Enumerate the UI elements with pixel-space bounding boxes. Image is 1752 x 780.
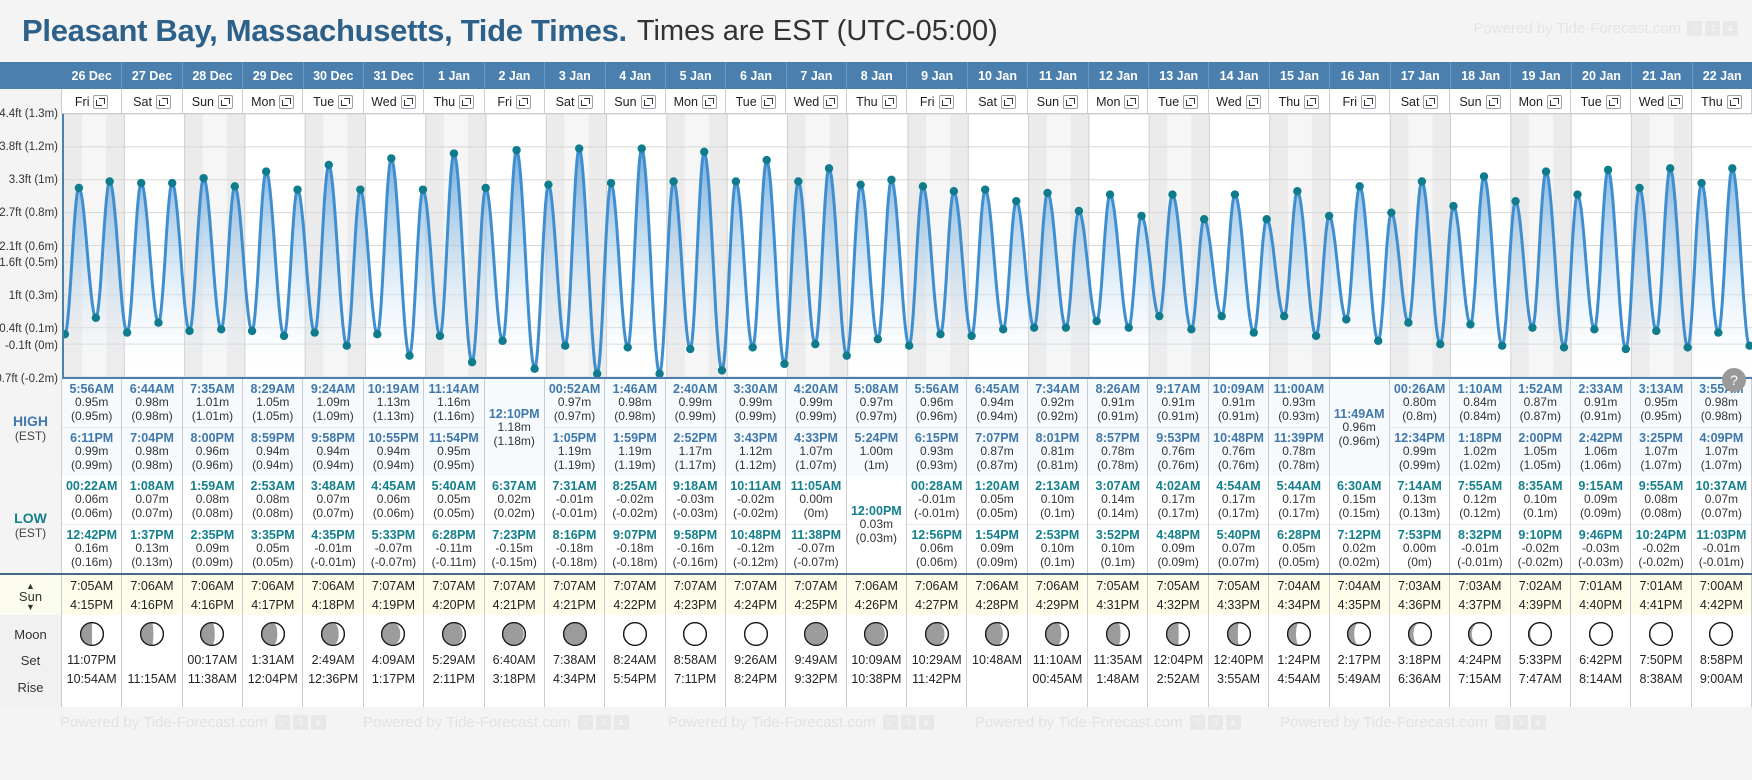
sunrise-time: 7:07AM — [553, 577, 596, 596]
tide-extreme-marker[interactable] — [1062, 324, 1070, 332]
tide-extreme-marker[interactable] — [512, 146, 520, 154]
tide-extreme-marker[interactable] — [343, 342, 351, 350]
moonset-time: 00:17AM — [187, 651, 237, 670]
moon-phase-wrapper — [1407, 621, 1433, 647]
expand-icon[interactable] — [1183, 95, 1198, 109]
low-tide-height-alt: (0.05m) — [252, 556, 293, 570]
low-tide-height: 0.08m — [1644, 493, 1677, 507]
moon-phase-wrapper — [501, 621, 527, 647]
tide-extreme-marker[interactable] — [1418, 177, 1426, 185]
tide-extreme-marker[interactable] — [1012, 197, 1020, 205]
tide-extreme-marker[interactable] — [1449, 202, 1457, 210]
high-tide-event: 12:34PM0.99m(0.99m) — [1390, 427, 1449, 476]
weekday-header-cell[interactable]: Wed — [786, 89, 846, 114]
high-tide-height: 0.95m — [437, 445, 470, 459]
tide-extreme-marker[interactable] — [168, 179, 176, 187]
tide-extreme-marker[interactable] — [575, 144, 583, 152]
expand-icon[interactable] — [761, 95, 776, 109]
low-tide-time: 11:05AM — [791, 479, 842, 493]
high-tide-height-alt: (1.05m) — [1520, 459, 1561, 473]
high-tide-event: 2:33AM0.91m(0.91m) — [1571, 379, 1630, 427]
sun-cell: 7:07AM4:21PM — [485, 575, 545, 617]
low-tide-height: 0.00m — [799, 493, 832, 507]
high-tide-cell: 1:10AM0.84m(0.84m)1:18PM1.02m(1.02m) — [1450, 379, 1510, 476]
tide-extreme-marker[interactable] — [780, 360, 788, 368]
tide-extreme-marker[interactable] — [1590, 325, 1598, 333]
high-tide-height-alt: (0.96m) — [1339, 435, 1380, 449]
weekday-header-cell[interactable]: Wed — [364, 89, 424, 114]
tide-extreme-marker[interactable] — [356, 185, 364, 193]
low-tide-height: -0.16m — [677, 542, 714, 556]
date-header-cell: 13 Jan — [1149, 62, 1209, 89]
sunrise-time: 7:07AM — [493, 577, 536, 596]
weekday-header-cell[interactable]: Sun — [605, 89, 665, 114]
expand-icon[interactable] — [939, 95, 954, 109]
high-tide-event: 11:14AM1.16m(1.16m) — [424, 379, 483, 427]
expand-icon[interactable] — [1246, 95, 1261, 109]
moon-cell: 10:48AM — [967, 615, 1027, 707]
weekday-header-cell[interactable]: Mon — [1088, 89, 1148, 114]
expand-icon[interactable] — [218, 95, 233, 109]
moonrise-time: 11:42PM — [912, 670, 961, 689]
tide-extreme-marker[interactable] — [1293, 187, 1301, 195]
expand-icon[interactable] — [93, 95, 108, 109]
tide-extreme-marker[interactable] — [1125, 324, 1133, 332]
tide-extreme-marker[interactable] — [1262, 215, 1270, 223]
sunset-time: 4:21PM — [553, 596, 596, 615]
expand-icon[interactable] — [578, 95, 593, 109]
tide-extreme-marker[interactable] — [874, 335, 882, 343]
low-tide-height: 0.07m — [135, 493, 168, 507]
tide-extreme-marker[interactable] — [1155, 312, 1163, 320]
tide-extreme-marker[interactable] — [638, 144, 646, 152]
tide-extreme-marker[interactable] — [856, 180, 864, 188]
tide-extreme-marker[interactable] — [1652, 327, 1660, 335]
moonrise-time: 7:11PM — [674, 670, 716, 689]
sun-cell: 7:06AM4:27PM — [907, 575, 967, 617]
tide-extreme-marker[interactable] — [1218, 312, 1226, 320]
low-tide-height: -0.15m — [496, 542, 533, 556]
low-tide-time: 6:28PM — [432, 528, 476, 542]
tide-extreme-marker[interactable] — [732, 177, 740, 185]
tide-extreme-marker[interactable] — [498, 337, 506, 345]
low-tide-event: 3:35PM0.05m(0.05m) — [243, 524, 302, 573]
tide-extreme-marker[interactable] — [293, 185, 301, 193]
low-tide-height-alt: (0.02m) — [1339, 556, 1380, 570]
tide-extreme-marker[interactable] — [1387, 208, 1395, 216]
tide-extreme-marker[interactable] — [1280, 312, 1288, 320]
moon-phase-icon — [1226, 621, 1252, 647]
tide-extreme-marker[interactable] — [669, 177, 677, 185]
tide-extreme-marker[interactable] — [248, 327, 256, 335]
tide-extreme-marker[interactable] — [1573, 190, 1581, 198]
tide-extreme-marker[interactable] — [1030, 324, 1038, 332]
tide-extreme-marker[interactable] — [905, 342, 913, 350]
tide-extreme-marker[interactable] — [887, 176, 895, 184]
weekday-header-cell[interactable]: Fri — [1330, 89, 1390, 114]
tide-extreme-marker[interactable] — [405, 351, 413, 359]
tide-extreme-marker[interactable] — [1092, 317, 1100, 325]
low-tide-cell: 3:07AM0.14m(0.14m)3:52PM0.10m(0.1m) — [1088, 476, 1148, 573]
sunset-time: 4:17PM — [251, 596, 294, 615]
moon-cell: 8:58AM7:11PM — [666, 615, 726, 707]
tide-extreme-marker[interactable] — [1312, 332, 1320, 340]
low-tide-event: 7:23PM-0.15m(-0.15m) — [485, 524, 544, 573]
tide-extreme-marker[interactable] — [419, 185, 427, 193]
weekday-header-cell[interactable]: Wed — [1209, 89, 1269, 114]
high-tide-cell: 10:19AM1.13m(1.13m)10:55PM0.94m(0.94m) — [364, 379, 424, 476]
tide-extreme-marker[interactable] — [530, 365, 538, 373]
moon-cell: 5:33PM7:47AM — [1511, 615, 1571, 707]
expand-icon[interactable] — [1001, 95, 1016, 109]
high-tide-height-alt: (0.99m) — [735, 410, 776, 424]
high-tide-cell: 7:35AM1.01m(1.01m)8:00PM0.96m(0.96m) — [183, 379, 243, 476]
tide-extreme-marker[interactable] — [794, 177, 802, 185]
moonset-time: 6:40AM — [493, 651, 536, 670]
expand-icon[interactable] — [401, 95, 416, 109]
sunset-time: 4:22PM — [613, 596, 656, 615]
sunrise-time: 7:06AM — [130, 577, 173, 596]
low-tide-event: 8:16PM-0.18m(-0.18m) — [545, 524, 604, 573]
tide-extreme-marker[interactable] — [1498, 342, 1506, 350]
high-tide-event: 11:39PM0.78m(0.78m) — [1269, 427, 1328, 476]
moon-times: 7:38AM4:34PM — [553, 651, 596, 690]
weekday-header-cell[interactable]: Thu — [847, 89, 907, 114]
tide-extreme-marker[interactable] — [762, 156, 770, 164]
expand-icon[interactable] — [641, 95, 656, 109]
y-axis-tick-label: -0.1ft (0m) — [5, 340, 58, 352]
moonset-time: 6:42PM — [1579, 651, 1622, 670]
moon-phase-wrapper — [1226, 621, 1252, 647]
expand-icon[interactable] — [156, 95, 171, 109]
tide-extreme-marker[interactable] — [1560, 343, 1568, 351]
high-tide-height-alt: (0.93m) — [1278, 410, 1319, 424]
moonrise-time: 11:38AM — [188, 670, 237, 689]
tide-extreme-marker[interactable] — [1604, 166, 1612, 174]
sun-cell: 7:05AM4:33PM — [1209, 575, 1269, 617]
weekday-header-cell[interactable]: Sun — [183, 89, 243, 114]
weekday-header-cell[interactable]: Fri — [485, 89, 545, 114]
tide-extreme-marker[interactable] — [231, 182, 239, 190]
moon-phase-icon — [924, 621, 950, 647]
tide-extreme-marker[interactable] — [624, 343, 632, 351]
expand-icon[interactable] — [1668, 95, 1683, 109]
tide-extreme-marker[interactable] — [700, 148, 708, 156]
high-tide-height-alt: (0.87m) — [976, 459, 1017, 473]
high-tide-cell: 6:44AM0.98m(0.98m)7:04PM0.98m(0.98m) — [122, 379, 182, 476]
tide-extreme-marker[interactable] — [217, 325, 225, 333]
low-tide-height-alt: (-0.02m) — [612, 507, 657, 521]
low-tide-time: 9:15AM — [1578, 479, 1622, 493]
weekday-header-cell[interactable]: Tue — [303, 89, 363, 114]
tide-extreme-marker[interactable] — [686, 345, 694, 353]
tide-extreme-marker[interactable] — [1355, 182, 1363, 190]
low-tide-height: 0.02m — [498, 493, 531, 507]
low-tide-time: 9:18AM — [673, 479, 717, 493]
tide-extreme-marker[interactable] — [950, 187, 958, 195]
weekday-header-cell[interactable]: Sat — [1390, 89, 1450, 114]
high-tide-height: 1.05m — [256, 396, 289, 410]
high-tide-height: 1.18m — [498, 421, 531, 435]
low-tide-height-alt: (-0.03m) — [1578, 556, 1623, 570]
sunset-time: 4:31PM — [1096, 596, 1139, 615]
tide-extreme-marker[interactable] — [1106, 190, 1114, 198]
moonset-time: 1:24PM — [1277, 651, 1320, 670]
low-tide-cell: 6:37AM0.02m(0.02m)7:23PM-0.15m(-0.15m) — [485, 476, 545, 573]
high-tide-time: 7:34AM — [1035, 382, 1079, 396]
help-badge[interactable]: ? — [1722, 368, 1746, 392]
weekday-header-cell[interactable]: Thu — [1692, 89, 1752, 114]
tide-extreme-marker[interactable] — [1187, 325, 1195, 333]
expand-icon[interactable] — [1547, 95, 1562, 109]
high-tide-height-alt: (0.95m) — [1640, 410, 1681, 424]
low-tide-label: LOW (EST) — [0, 476, 62, 573]
tide-extreme-marker[interactable] — [936, 330, 944, 338]
moon-cell: 11:35AM1:48AM — [1088, 615, 1148, 707]
moon-phase-wrapper — [441, 621, 467, 647]
weekday-header-cell[interactable]: Tue — [726, 89, 786, 114]
weekday-header-cell[interactable]: Sat — [545, 89, 605, 114]
tide-extreme-marker[interactable] — [1168, 190, 1176, 198]
weekday-header-cell[interactable]: Sat — [122, 89, 182, 114]
high-tide-height: 0.98m — [135, 396, 168, 410]
weekday-columns: FriSatSunMonTueWedThuFriSatSunMonTueWedT… — [62, 89, 1752, 113]
expand-icon[interactable] — [1124, 95, 1139, 109]
weekday-header-cell[interactable]: Sun — [1028, 89, 1088, 114]
low-tide-height: -0.02m — [737, 493, 774, 507]
tide-extreme-marker[interactable] — [75, 184, 83, 192]
expand-icon[interactable] — [459, 95, 474, 109]
tide-extreme-marker[interactable] — [967, 332, 975, 340]
weekday-header-cell[interactable]: Sat — [967, 89, 1027, 114]
tide-extreme-marker[interactable] — [1480, 172, 1488, 180]
tide-extreme-marker[interactable] — [1374, 337, 1382, 345]
expand-icon[interactable] — [338, 95, 353, 109]
weekday-header-cell[interactable]: Thu — [1269, 89, 1329, 114]
moon-phase-icon — [1527, 621, 1553, 647]
expand-icon[interactable] — [1361, 95, 1376, 109]
low-tide-cell: 5:44AM0.17m(0.17m)6:28PM0.05m(0.05m) — [1269, 476, 1329, 573]
moonrise-time: 10:54AM — [67, 670, 117, 689]
expand-icon[interactable] — [279, 95, 294, 109]
high-tide-cell: 00:26AM0.80m(0.8m)12:34PM0.99m(0.99m) — [1390, 379, 1450, 476]
moon-phase-icon — [1346, 621, 1372, 647]
y-axis-tick-label: 0.4ft (0.1m) — [0, 323, 58, 335]
tide-extreme-marker[interactable] — [1683, 343, 1691, 351]
tide-extreme-marker[interactable] — [1511, 197, 1519, 205]
high-tide-time: 00:52AM — [549, 382, 600, 396]
low-tide-event: 5:40AM0.05m(0.05m) — [424, 476, 483, 524]
high-tide-time: 2:33AM — [1578, 382, 1622, 396]
high-tide-time: 8:57PM — [1096, 431, 1140, 445]
low-tide-height: -0.07m — [375, 542, 412, 556]
tide-extreme-marker[interactable] — [811, 340, 819, 348]
moonset-time: 10:09AM — [851, 651, 901, 670]
high-tide-time: 7:35AM — [190, 382, 234, 396]
expand-icon[interactable] — [1063, 95, 1078, 109]
high-tide-height: 0.98m — [135, 445, 168, 459]
weekday-header-cell[interactable]: Mon — [243, 89, 303, 114]
tide-extreme-marker[interactable] — [1714, 328, 1722, 336]
sunrise-time: 7:07AM — [372, 577, 415, 596]
expand-icon[interactable] — [882, 95, 897, 109]
expand-icon[interactable] — [702, 95, 717, 109]
tide-extreme-marker[interactable] — [262, 167, 270, 175]
tide-extreme-marker[interactable] — [1622, 345, 1630, 353]
low-tide-height: -0.03m — [1582, 542, 1619, 556]
expand-icon[interactable] — [1606, 95, 1621, 109]
tide-extreme-marker[interactable] — [92, 314, 100, 322]
moonset-time: 11:10AM — [1033, 651, 1082, 670]
moonset-time: 10:48AM — [972, 651, 1022, 670]
sun-cell: 7:04AM4:35PM — [1330, 575, 1390, 617]
moon-times: 11:07PM10:54AM — [67, 651, 117, 690]
surf-badge-icon-f2: ▲ — [614, 715, 629, 730]
weekday-header-cell[interactable]: Fri — [62, 89, 122, 114]
weekday-header-cell[interactable]: Thu — [424, 89, 484, 114]
tide-extreme-marker[interactable] — [843, 351, 851, 359]
high-tide-height-alt: (1.17m) — [675, 459, 716, 473]
low-tide-cell: 00:22AM0.06m(0.06m)12:42PM0.16m(0.16m) — [62, 476, 122, 573]
tide-extreme-marker[interactable] — [1200, 215, 1208, 223]
expand-icon[interactable] — [516, 95, 531, 109]
sun-cell: 7:06AM4:17PM — [243, 575, 303, 617]
high-tide-height: 0.94m — [377, 445, 410, 459]
moon-phase-icon — [1165, 621, 1191, 647]
tide-extreme-marker[interactable] — [199, 174, 207, 182]
tide-curve-plot[interactable] — [62, 114, 1752, 379]
tide-extreme-marker[interactable] — [280, 332, 288, 340]
tide-extreme-marker[interactable] — [311, 328, 319, 336]
high-tide-height: 0.96m — [1343, 421, 1376, 435]
weekday-header-cell[interactable]: Sun — [1450, 89, 1510, 114]
low-tide-height: 0.12m — [1463, 493, 1496, 507]
moon-phase-wrapper — [622, 621, 648, 647]
tide-extreme-marker[interactable] — [387, 154, 395, 162]
tide-extreme-marker[interactable] — [468, 358, 476, 366]
tide-extreme-marker[interactable] — [1231, 190, 1239, 198]
weekday-header-cell[interactable]: Mon — [1511, 89, 1571, 114]
sunset-time: 4:40PM — [1579, 596, 1622, 615]
tide-extreme-marker[interactable] — [1250, 328, 1258, 336]
tide-extreme-marker[interactable] — [436, 332, 444, 340]
high-tide-height: 0.93m — [1282, 396, 1315, 410]
tide-extreme-marker[interactable] — [561, 342, 569, 350]
high-tide-event: 5:08AM0.97m(0.97m) — [847, 379, 906, 427]
low-tide-cell: 9:18AM-0.03m(-0.03m)9:58PM-0.16m(-0.16m) — [666, 476, 726, 573]
tide-extreme-marker[interactable] — [718, 366, 726, 374]
tide-extreme-marker[interactable] — [373, 330, 381, 338]
low-tide-time: 5:40AM — [432, 479, 476, 493]
date-header-row: 26 Dec27 Dec28 Dec29 Dec30 Dec31 Dec1 Ja… — [0, 62, 1752, 89]
surf-badge-icon-f5: ▲ — [1531, 715, 1546, 730]
tide-extreme-marker[interactable] — [1635, 184, 1643, 192]
y-axis-tick-label: 4.4ft (1.3m) — [0, 108, 58, 120]
tide-extreme-marker[interactable] — [1342, 315, 1350, 323]
expand-icon[interactable] — [1727, 95, 1742, 109]
low-tide-height: 0.16m — [75, 542, 108, 556]
tide-extreme-marker[interactable] — [999, 325, 1007, 333]
tide-extreme-marker[interactable] — [748, 343, 756, 351]
sun-cell: 7:06AM4:26PM — [847, 575, 907, 617]
weekday-header-cell[interactable]: Wed — [1631, 89, 1691, 114]
low-tide-height: -0.18m — [556, 542, 593, 556]
sunrise-time: 7:07AM — [674, 577, 717, 596]
moon-phase-icon — [380, 621, 406, 647]
y-axis-tick-label: 2.1ft (0.6m) — [0, 241, 58, 253]
tide-extreme-marker[interactable] — [1728, 164, 1736, 172]
low-tide-cell: 00:28AM-0.01m(-0.01m)12:56PM0.06m(0.06m) — [907, 476, 967, 573]
moon-times: 4:09AM1:17PM — [372, 651, 415, 690]
tide-extreme-marker[interactable] — [137, 179, 145, 187]
expand-icon[interactable] — [1423, 95, 1438, 109]
low-tide-height: -0.07m — [797, 542, 834, 556]
moon-cell: 12:40PM3:55AM — [1209, 615, 1269, 707]
tide-extreme-marker[interactable] — [1697, 179, 1705, 187]
tide-extreme-marker[interactable] — [105, 177, 113, 185]
low-tide-height: 0.05m — [1282, 542, 1315, 556]
tide-extreme-marker[interactable] — [325, 161, 333, 169]
tide-extreme-marker[interactable] — [919, 182, 927, 190]
high-tide-cell: 9:24AM1.09m(1.09m)9:58PM0.94m(0.94m) — [303, 379, 363, 476]
tide-extreme-marker[interactable] — [607, 179, 615, 187]
tide-extreme-marker[interactable] — [1436, 340, 1444, 348]
tide-extreme-marker[interactable] — [1137, 212, 1145, 220]
tide-extreme-marker[interactable] — [1466, 320, 1474, 328]
tide-extreme-marker[interactable] — [123, 328, 131, 336]
high-tide-height: 0.92m — [1041, 396, 1074, 410]
high-tide-time: 6:45AM — [975, 382, 1019, 396]
tide-extreme-marker[interactable] — [1666, 164, 1674, 172]
tide-extreme-marker[interactable] — [185, 327, 193, 335]
expand-icon[interactable] — [1304, 95, 1319, 109]
weekday-header-cell[interactable]: Fri — [907, 89, 967, 114]
powered-by-text-4: Powered by Tide-Forecast.com — [975, 714, 1183, 731]
low-tide-height-alt: (0.1m) — [1100, 556, 1135, 570]
weekday-header-cell[interactable]: Mon — [666, 89, 726, 114]
tide-extreme-marker[interactable] — [981, 185, 989, 193]
tide-extreme-marker[interactable] — [482, 184, 490, 192]
sunrise-time: 7:03AM — [1398, 577, 1441, 596]
weekday-header-cell[interactable]: Tue — [1571, 89, 1631, 114]
low-tide-time: 3:52PM — [1096, 528, 1140, 542]
tide-extreme-marker[interactable] — [1043, 189, 1051, 197]
high-tide-height: 1.05m — [1524, 445, 1557, 459]
tide-extreme-marker[interactable] — [825, 164, 833, 172]
tide-extreme-marker[interactable] — [1075, 207, 1083, 215]
weekday-header-cell[interactable]: Tue — [1148, 89, 1208, 114]
expand-icon[interactable] — [1486, 95, 1501, 109]
tide-extreme-marker[interactable] — [1404, 319, 1412, 327]
high-tide-time: 10:19AM — [368, 382, 419, 396]
tide-extreme-marker[interactable] — [1528, 324, 1536, 332]
expand-icon[interactable] — [823, 95, 838, 109]
tide-extreme-marker[interactable] — [544, 180, 552, 188]
tide-extreme-marker[interactable] — [1542, 167, 1550, 175]
low-tide-height: -0.01m — [556, 493, 593, 507]
tide-extreme-marker[interactable] — [450, 149, 458, 157]
high-tide-event: 9:58PM0.94m(0.94m) — [303, 427, 362, 476]
high-tide-time: 4:09PM — [1699, 431, 1743, 445]
moonrise-time: 9:00AM — [1700, 670, 1743, 689]
moon-phase-wrapper — [562, 621, 588, 647]
tide-extreme-marker[interactable] — [154, 319, 162, 327]
low-tide-event: 7:31AM-0.01m(-0.01m) — [545, 476, 604, 524]
sunset-time: 4:25PM — [794, 596, 837, 615]
refresh-badge-icon-f3: ↴ — [901, 715, 916, 730]
tide-extreme-marker[interactable] — [1325, 212, 1333, 220]
high-tide-cell: 7:34AM0.92m(0.92m)8:01PM0.81m(0.81m) — [1028, 379, 1088, 476]
